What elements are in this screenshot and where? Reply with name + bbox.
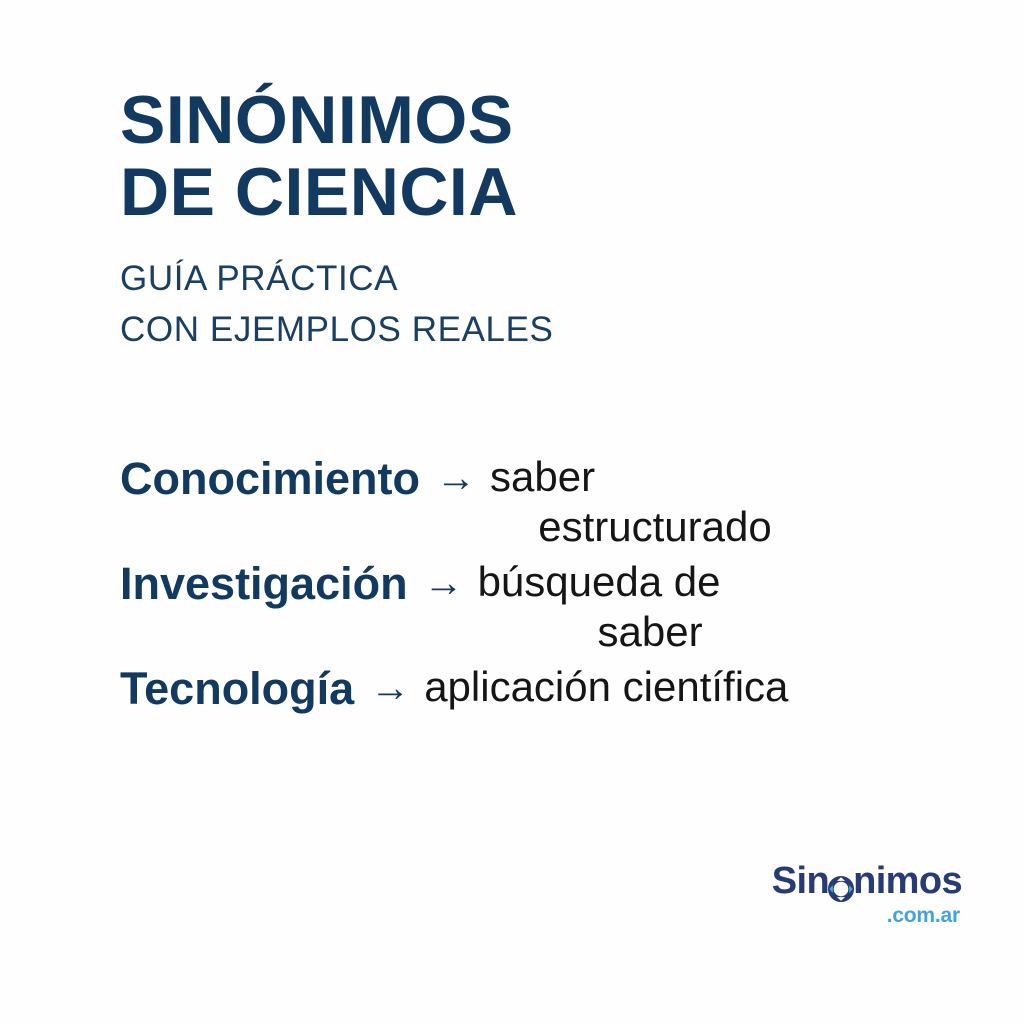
logo-wordmark: Sin nimos: [772, 862, 962, 900]
logo-domain-text: .com.ar: [772, 905, 960, 926]
page-subtitle-line-1: GUÍA PRÁCTICA: [120, 254, 960, 305]
page-subtitle-line-2: CON EJEMPLOS REALES: [120, 305, 960, 356]
synonym-definition-line-2: estructurado: [490, 502, 820, 552]
synonym-definition-line-1: aplicación científica: [424, 662, 894, 712]
synonym-definition: saber estructurado: [490, 452, 820, 551]
logo-gear-o-icon: [828, 871, 854, 897]
synonym-definition: aplicación científica: [424, 662, 894, 712]
synonym-definition-line-1: búsqueda de: [478, 557, 823, 607]
logo-wordmark-part-2: nimos: [853, 862, 962, 900]
synonym-row: Tecnología → aplicación científica: [120, 662, 950, 717]
synonym-term: Investigación: [120, 557, 408, 612]
arrow-right-icon: →: [408, 557, 478, 610]
synonym-definition-line-1: saber: [490, 452, 820, 502]
site-logo[interactable]: Sin nimos .com.ar: [772, 862, 962, 926]
synonym-row: Investigación → búsqueda de saber: [120, 557, 950, 656]
subtitle-block: GUÍA PRÁCTICA CON EJEMPLOS REALES: [120, 254, 960, 356]
arrow-right-icon: →: [354, 662, 424, 715]
page-title-line-1: SINÓNIMOS: [120, 84, 960, 156]
synonym-term: Conocimiento: [120, 452, 420, 507]
infographic-card: SINÓNIMOS DE CIENCIA GUÍA PRÁCTICA CON E…: [0, 0, 1024, 1024]
arrow-right-icon: →: [420, 452, 490, 505]
logo-wordmark-part-1: Sin: [772, 862, 829, 900]
page-title-line-2: DE CIENCIA: [120, 156, 960, 228]
synonym-definition-line-2: saber: [478, 607, 823, 657]
synonym-term: Tecnología: [120, 662, 354, 717]
synonym-row: Conocimiento → saber estructurado: [120, 452, 950, 551]
synonym-list: Conocimiento → saber estructurado Invest…: [120, 452, 950, 729]
heading-block: SINÓNIMOS DE CIENCIA GUÍA PRÁCTICA CON E…: [120, 84, 960, 356]
synonym-definition: búsqueda de saber: [478, 557, 823, 656]
